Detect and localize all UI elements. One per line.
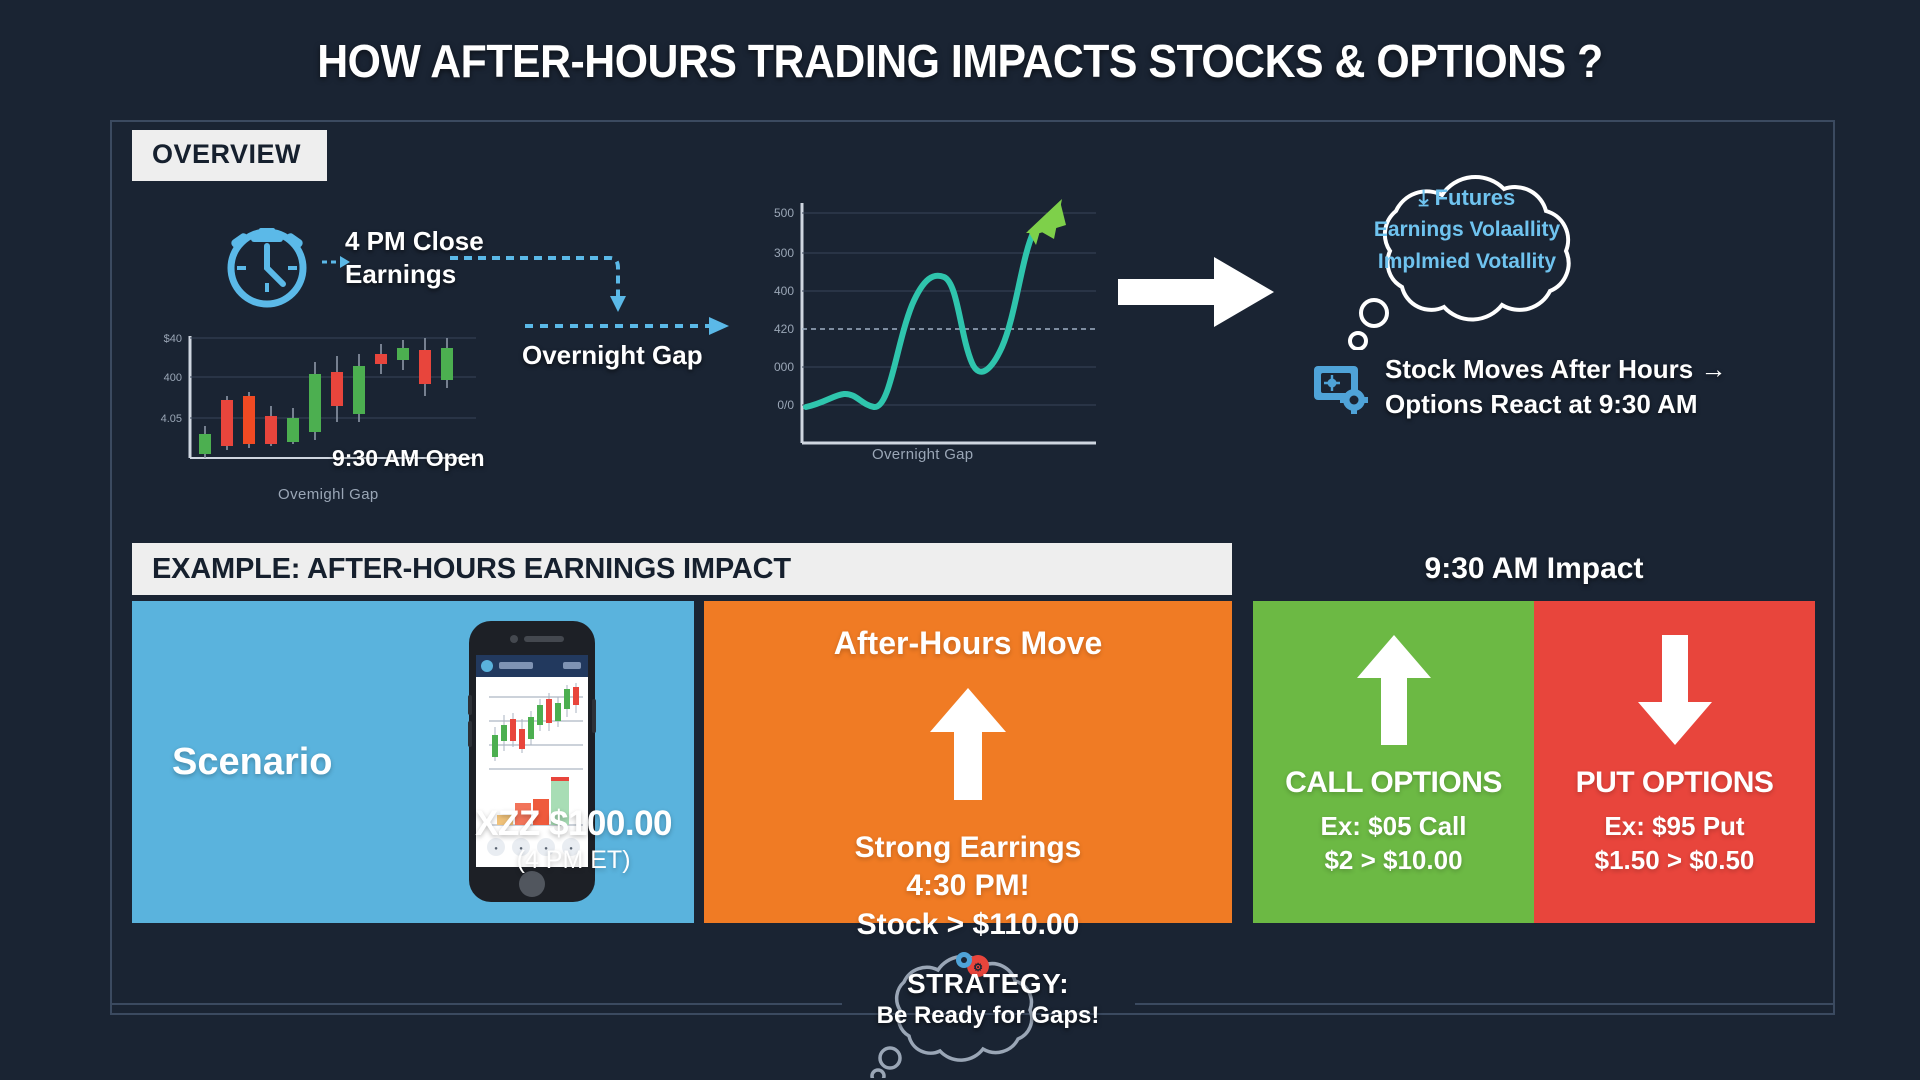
alarm-clock-icon [215, 210, 319, 319]
put-options-line-1: Ex: $95 Put [1595, 810, 1755, 844]
strategy-text-block: STRATEGY: Be Ready for Gaps! [838, 968, 1138, 1030]
overnight-gap-label: Overnight Gap [522, 340, 703, 371]
line-chart: 500 300 400 420 000 0/0 [740, 195, 1100, 465]
svg-text:$40: $40 [164, 333, 182, 345]
candlestick-chart-caption: Ovemighl Gap [278, 486, 379, 503]
section-chip-overview: OVERVIEW [132, 130, 327, 181]
svg-text:0/0: 0/0 [777, 398, 794, 412]
call-options-text: Ex: $05 Call $2 > $10.00 [1321, 810, 1467, 878]
arrow-up-icon [1357, 635, 1431, 750]
stock-moves-line-2: Options React at 9:30 AM [1385, 387, 1726, 422]
after-hours-line-2: 4:30 PM! [855, 867, 1082, 905]
call-options-line-1: Ex: $05 Call [1321, 810, 1467, 844]
svg-text:400: 400 [774, 284, 794, 298]
impact-heading: 9:30 AM Impact [1253, 552, 1815, 586]
cloud-line-2: Earnings Volaallity [1332, 218, 1602, 242]
line-chart-caption: Overnight Gap [872, 446, 973, 463]
ticker-time: (4 PM ET) [475, 846, 672, 875]
call-options-panel: CALL OPTIONS Ex: $05 Call $2 > $10.00 [1253, 601, 1534, 923]
cloud-text-block: ⤓ Futures Earnings Volaallity Implmied V… [1332, 185, 1602, 274]
strategy-line-1: STRATEGY: [838, 968, 1138, 1000]
section-chip-example: EXAMPLE: AFTER-HOURS EARNINGS IMPACT [132, 543, 1232, 595]
chevron-down-futures-icon: ⤓ [1419, 185, 1429, 210]
strategy-line-2: Be Ready for Gaps! [838, 1002, 1138, 1030]
after-hours-line-3: Stock > $110.00 [855, 906, 1082, 944]
infographic-canvas: HOW AFTER-HOURS TRADING IMPACTS STOCKS &… [0, 0, 1920, 1080]
page-title: HOW AFTER-HOURS TRADING IMPACTS STOCKS &… [67, 34, 1853, 88]
put-options-panel: PUT OPTIONS Ex: $95 Put $1.50 > $0.50 [1534, 601, 1815, 923]
ticker-price-block: XZZ $100.00 (4 PM ET) [475, 804, 672, 875]
dashed-arrow-small-icon [322, 252, 352, 272]
cloud-line-1: ⤓ Futures [1332, 185, 1602, 211]
svg-text:420: 420 [774, 322, 794, 336]
ticker-price: XZZ $100.00 [475, 804, 672, 844]
svg-text:500: 500 [774, 206, 794, 220]
put-options-text: Ex: $95 Put $1.50 > $0.50 [1595, 810, 1755, 878]
divider-left [112, 1003, 842, 1005]
right-arrow-icon [1118, 255, 1276, 334]
svg-text:000: 000 [774, 360, 794, 374]
after-hours-line-1: Strong Earrings [855, 829, 1082, 867]
call-options-title: CALL OPTIONS [1285, 766, 1502, 800]
svg-text:400: 400 [164, 372, 182, 384]
divider-right [1135, 1003, 1835, 1005]
stock-moves-text: Stock Moves After Hours → Options React … [1385, 352, 1726, 422]
after-hours-text: Strong Earrings 4:30 PM! Stock > $110.00 [855, 829, 1082, 944]
put-options-line-2: $1.50 > $0.50 [1595, 844, 1755, 878]
settings-chart-icon [1312, 362, 1374, 423]
stock-moves-line-1: Stock Moves After Hours → [1385, 352, 1726, 387]
after-hours-panel: After-Hours Move Strong Earrings 4:30 PM… [704, 601, 1232, 923]
dashed-arrow-gap-icon [525, 315, 730, 337]
open-time-label: 9:30 AM Open [332, 445, 485, 472]
cloud-line-3: Implmied Votallity [1332, 250, 1602, 274]
svg-text:4.05: 4.05 [161, 413, 182, 425]
arrow-up-icon [930, 688, 1006, 805]
after-hours-title: After-Hours Move [834, 625, 1102, 662]
svg-text:300: 300 [774, 246, 794, 260]
call-options-line-2: $2 > $10.00 [1321, 844, 1467, 878]
scenario-panel: Scenario [132, 601, 694, 923]
arrow-down-icon [1638, 635, 1712, 750]
put-options-title: PUT OPTIONS [1576, 766, 1774, 800]
scenario-label: Scenario [172, 741, 333, 784]
